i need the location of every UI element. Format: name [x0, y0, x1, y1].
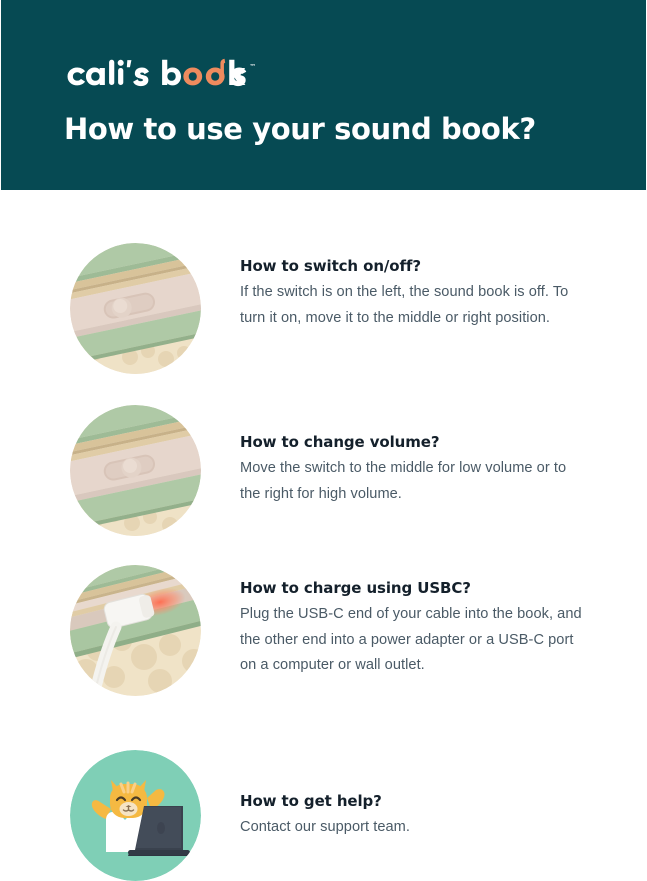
instruction-text-change-volume: How to change volume? Move the switch to… [240, 433, 590, 507]
page-title: How to use your sound book? [64, 112, 536, 146]
sound-book-switch-middle-photo [70, 405, 201, 536]
cali-cat-laptop-illustration [70, 750, 201, 881]
instruction-body: If the switch is on the left, the sound … [240, 280, 588, 331]
calis-books-logo: ™ [64, 58, 260, 92]
instruction-title: How to get help? [240, 792, 590, 810]
instruction-title: How to change volume? [240, 433, 590, 451]
instruction-text-switch-on-off: How to switch on/off? If the switch is o… [240, 257, 590, 331]
instruction-text-get-help: How to get help? Contact our support tea… [240, 792, 590, 841]
sound-book-usbc-charging-photo [70, 565, 201, 696]
instruction-text-charge-usbc: How to charge using USBC? Plug the USB-C… [240, 579, 590, 679]
instruction-sheet: ™ How to use your sound book? [0, 0, 647, 879]
instruction-body: Contact our support team. [240, 815, 588, 841]
page-header: ™ How to use your sound book? [1, 0, 646, 190]
instruction-title: How to switch on/off? [240, 257, 590, 275]
instruction-title: How to charge using USBC? [240, 579, 590, 597]
sound-book-switch-left-photo [70, 243, 201, 374]
svg-text:™: ™ [249, 63, 256, 71]
instruction-body: Move the switch to the middle for low vo… [240, 456, 588, 507]
instruction-body: Plug the USB-C end of your cable into th… [240, 602, 588, 679]
